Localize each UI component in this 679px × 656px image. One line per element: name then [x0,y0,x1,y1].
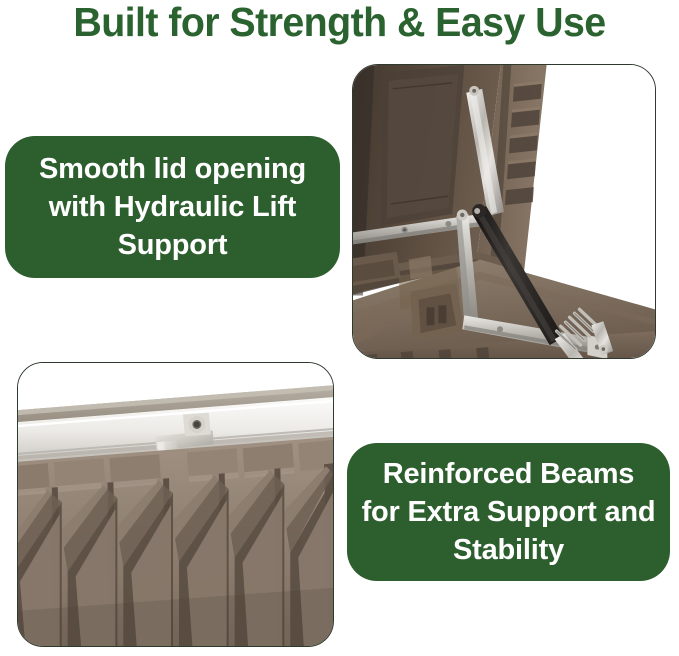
reinforcing-beams [18,436,333,646]
callout-reinforced-beams: Reinforced Beams for Extra Support and S… [347,443,670,581]
callout-hydraulic-lift-text: Smooth lid opening with Hydraulic Lift S… [5,150,340,264]
callout-hydraulic-lift: Smooth lid opening with Hydraulic Lift S… [5,136,340,278]
callout-reinforced-beams-text: Reinforced Beams for Extra Support and S… [347,455,670,569]
reinforced-beams-photo [17,362,334,647]
page-title: Built for Strength & Easy Use [14,0,666,46]
hydraulic-lift-photo [352,64,656,359]
